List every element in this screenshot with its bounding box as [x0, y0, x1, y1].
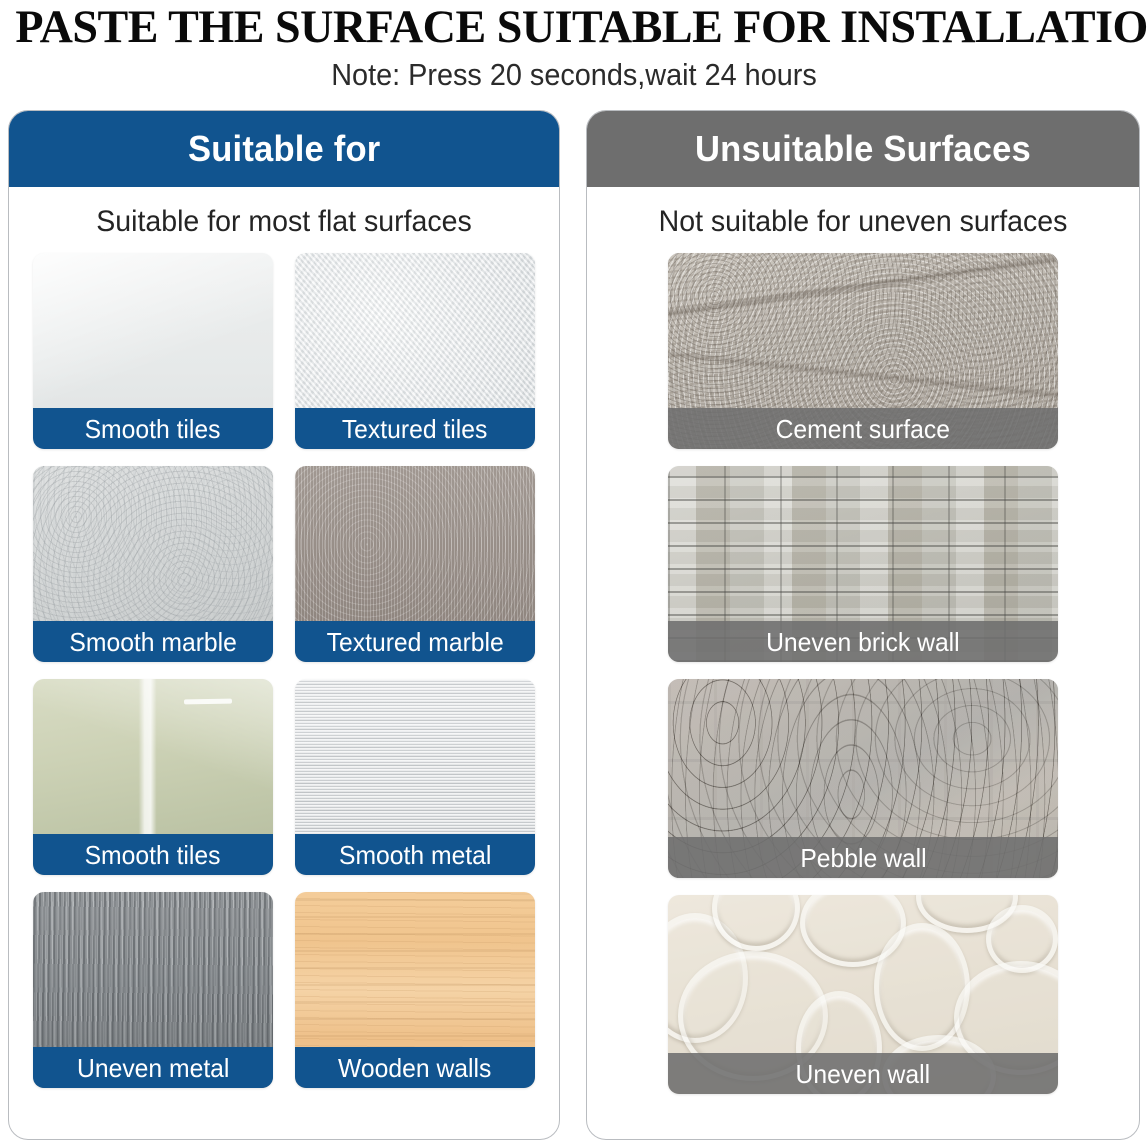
- unsuitable-swatch-grid: Cement surface Uneven brick wall Pebble …: [587, 253, 1139, 1108]
- surface-tile-textured-tiles[interactable]: Textured tiles: [295, 253, 535, 449]
- surface-tile-label-text: Uneven wall: [796, 1060, 931, 1088]
- surface-tile-textured-marble[interactable]: Textured marble: [295, 466, 535, 662]
- comparison-panels: Suitable for Suitable for most flat surf…: [0, 110, 1148, 1140]
- unsuitable-panel-caption: Not suitable for uneven surfaces: [601, 187, 1125, 253]
- suitable-panel-header-label: Suitable for: [188, 128, 380, 170]
- surface-tile-label: Uneven wall: [668, 1053, 1058, 1094]
- surface-tile-smooth-tiles[interactable]: Smooth tiles: [33, 253, 273, 449]
- surface-tile-label-text: Smooth tiles: [85, 841, 221, 869]
- surface-tile-label: Cement surface: [668, 408, 1058, 449]
- unsuitable-panel-header: Unsuitable Surfaces: [587, 111, 1139, 187]
- surface-tile-label: Uneven brick wall: [668, 621, 1058, 662]
- surface-tile-glass-tiles[interactable]: Smooth tiles: [33, 679, 273, 875]
- surface-tile-pebble-wall[interactable]: Pebble wall: [668, 679, 1058, 878]
- surface-tile-label-text: Smooth marble: [69, 628, 236, 656]
- surface-tile-label-text: Textured tiles: [342, 415, 488, 443]
- suitable-panel-caption: Suitable for most flat surfaces: [23, 187, 546, 253]
- surface-tile-label-text: Pebble wall: [800, 844, 926, 872]
- surface-tile-smooth-marble[interactable]: Smooth marble: [33, 466, 273, 662]
- surface-tile-label-text: Cement surface: [776, 415, 950, 443]
- surface-tile-label-text: Wooden walls: [338, 1054, 491, 1082]
- surface-tile-smooth-metal[interactable]: Smooth metal: [295, 679, 535, 875]
- surface-tile-label-text: Textured marble: [326, 628, 503, 656]
- surface-tile-label: Textured tiles: [295, 408, 535, 449]
- suitable-swatch-grid: Smooth tiles Textured tiles Smooth marbl…: [9, 253, 559, 1102]
- surface-tile-uneven-brick-wall[interactable]: Uneven brick wall: [668, 466, 1058, 662]
- surface-tile-label: Smooth tiles: [33, 408, 273, 449]
- surface-tile-label: Wooden walls: [295, 1047, 535, 1088]
- surface-tile-label: Pebble wall: [668, 837, 1058, 878]
- page-title: PASTE THE SURFACE SUITABLE FOR INSTALLAT…: [11, 2, 1136, 52]
- surface-tile-label-text: Smooth tiles: [85, 415, 221, 443]
- surface-tile-label-text: Smooth metal: [339, 841, 491, 869]
- surface-tile-label-text: Uneven metal: [77, 1054, 229, 1082]
- unsuitable-panel-header-label: Unsuitable Surfaces: [695, 128, 1031, 170]
- note-text: Note: Press 20 seconds,wait 24 hours: [40, 56, 1108, 94]
- surface-tile-label: Smooth tiles: [33, 834, 273, 875]
- surface-tile-label: Smooth marble: [33, 621, 273, 662]
- surface-tile-cement-surface[interactable]: Cement surface: [668, 253, 1058, 449]
- suitable-panel-header: Suitable for: [9, 111, 559, 187]
- unsuitable-panel: Unsuitable Surfaces Not suitable for une…: [586, 110, 1140, 1140]
- surface-tile-label: Textured marble: [295, 621, 535, 662]
- surface-tile-uneven-wall[interactable]: Uneven wall: [668, 895, 1058, 1094]
- suitable-panel: Suitable for Suitable for most flat surf…: [8, 110, 560, 1140]
- title-block: PASTE THE SURFACE SUITABLE FOR INSTALLAT…: [0, 0, 1148, 94]
- surface-tile-label: Uneven metal: [33, 1047, 273, 1088]
- surface-tile-wooden-walls[interactable]: Wooden walls: [295, 892, 535, 1088]
- surface-tile-label: Smooth metal: [295, 834, 535, 875]
- surface-tile-uneven-metal[interactable]: Uneven metal: [33, 892, 273, 1088]
- surface-tile-label-text: Uneven brick wall: [766, 628, 960, 656]
